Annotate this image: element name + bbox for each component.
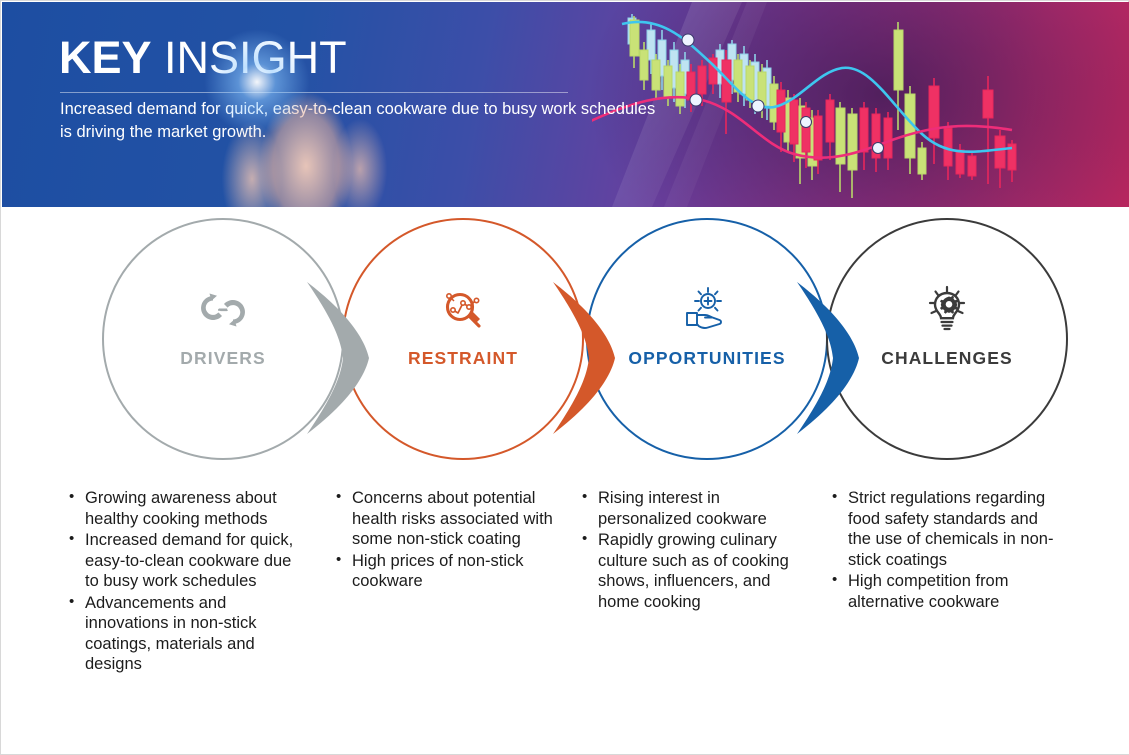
list-item: Increased demand for quick, easy-to-clea… (67, 530, 307, 592)
list-item: Concerns about potential health risks as… (334, 488, 556, 550)
hand-holding-idea-icon (679, 282, 735, 338)
title-light-word: INSIGHT (164, 32, 347, 83)
bullets-challenges: Strict regulations regarding food safety… (830, 488, 1060, 613)
list-item: Rising interest in personalized cookware (580, 488, 802, 529)
header-subtitle: Increased demand for quick, easy-to-clea… (60, 98, 660, 144)
list-item: High competition from alternative cookwa… (830, 571, 1060, 612)
infographic-page: KEY INSIGHT Increased demand for quick, … (0, 0, 1129, 755)
chevron-restraint-to-opportunities (549, 278, 627, 438)
cycle-arrows-icon (195, 282, 251, 338)
title-divider (60, 92, 568, 93)
list-item: Growing awareness about healthy cooking … (67, 488, 307, 529)
bullets-opportunities: Rising interest in personalized cookware… (580, 488, 802, 613)
magnifier-analytics-icon (435, 282, 491, 338)
candlestick-stock-chart-artwork (592, 2, 1129, 207)
chevron-drivers-to-restraint (303, 278, 381, 438)
lightbulb-gear-icon (919, 282, 975, 338)
list-item: High prices of non-stick cookware (334, 551, 556, 592)
bullets-drivers: Growing awareness about healthy cooking … (67, 488, 307, 676)
title-bold-word: KEY (59, 32, 152, 83)
page-title: KEY INSIGHT (59, 32, 347, 84)
list-item: Advancements and innovations in non-stic… (67, 593, 307, 675)
list-item: Strict regulations regarding food safety… (830, 488, 1060, 570)
list-item: Rapidly growing culinary culture such as… (580, 530, 802, 612)
banner-background: KEY INSIGHT Increased demand for quick, … (2, 2, 1129, 207)
chevron-opportunities-to-challenges (793, 278, 871, 438)
header-banner: KEY INSIGHT Increased demand for quick, … (2, 2, 1129, 207)
swot-diagram: DRIVERS (2, 207, 1129, 754)
bullets-restraint: Concerns about potential health risks as… (334, 488, 556, 593)
